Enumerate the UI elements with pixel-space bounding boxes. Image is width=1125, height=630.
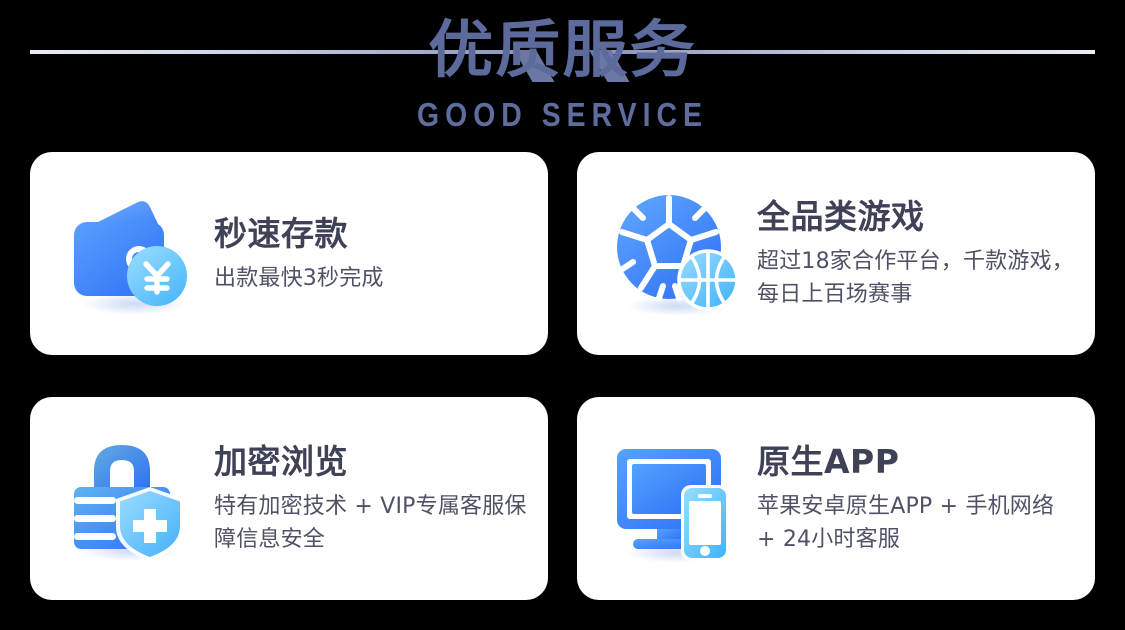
promo-banner: 优质服务 GOOD SERVICE [0,0,1125,630]
card-subtitle: 超过18家合作平台，千款游戏，每日上百场赛事 [757,245,1077,311]
feature-card-native-app[interactable]: 原生APP 苹果安卓原生APP + 手机网络 + 24小时客服 [577,397,1095,600]
wallet-yen-icon [60,184,200,324]
page-title: 优质服务 [0,8,1125,92]
header: 优质服务 GOOD SERVICE [0,0,1125,146]
feature-card-games[interactable]: 全品类游戏 超过18家合作平台，千款游戏，每日上百场赛事 [577,152,1095,355]
card-title: 秒速存款 [214,213,530,255]
lock-shield-icon [60,429,200,569]
monitor-phone-icon [607,429,747,569]
feature-card-grid: 秒速存款 出款最快3秒完成 [30,152,1095,600]
card-title: 全品类游戏 [757,196,1077,238]
feature-card-encryption[interactable]: 加密浏览 特有加密技术 + VIP专属客服保障信息安全 [30,397,548,600]
card-subtitle: 出款最快3秒完成 [214,262,530,295]
card-subtitle: 特有加密技术 + VIP专属客服保障信息安全 [214,490,530,556]
feature-card-deposit[interactable]: 秒速存款 出款最快3秒完成 [30,152,548,355]
card-subtitle: 苹果安卓原生APP + 手机网络 + 24小时客服 [757,490,1077,556]
page-subtitle: GOOD SERVICE [79,96,1047,134]
card-text: 加密浏览 特有加密技术 + VIP专属客服保障信息安全 [214,441,530,556]
card-title: 加密浏览 [214,441,530,483]
card-text: 全品类游戏 超过18家合作平台，千款游戏，每日上百场赛事 [757,196,1077,311]
soccer-basketball-icon [607,184,747,324]
card-text: 秒速存款 出款最快3秒完成 [214,213,530,295]
card-title: 原生APP [757,441,1077,483]
card-text: 原生APP 苹果安卓原生APP + 手机网络 + 24小时客服 [757,441,1077,556]
